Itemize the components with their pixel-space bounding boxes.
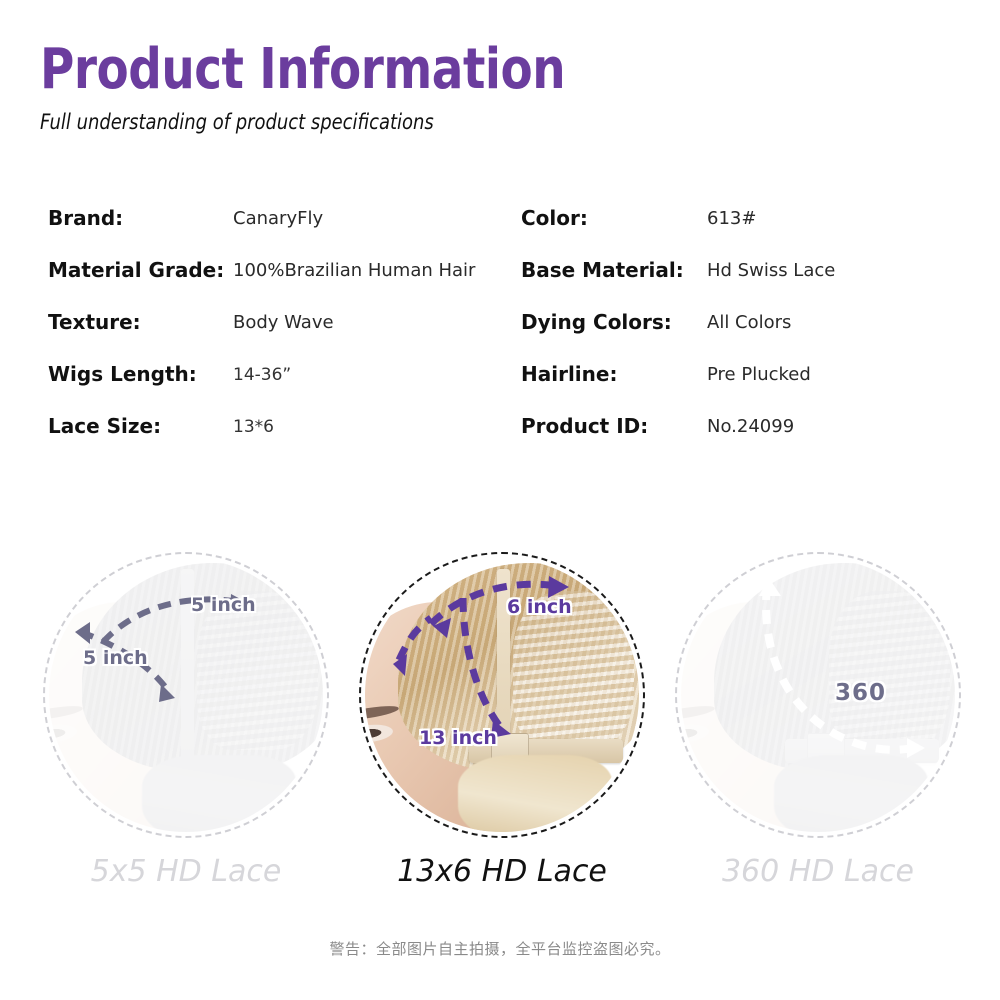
spec-value-wigs-length: 14-36” (233, 362, 291, 388)
spec-label-product-id: Product ID: (521, 413, 648, 439)
spec-column-right: Color: 613# Base Material: Hd Swiss Lace… (521, 205, 971, 465)
measure-label-a-13x6: 6 inch (507, 596, 572, 618)
spec-row-texture: Texture: Body Wave (48, 309, 518, 361)
spec-row-color: Color: 613# (521, 205, 971, 257)
spec-label-color: Color: (521, 205, 588, 231)
measure-label-a-5x5: 5 inch (191, 594, 256, 616)
measure-label-b-5x5: 5 inch (83, 647, 148, 669)
lace-caption-13x6: 13x6 HD Lace (352, 854, 652, 889)
copyright-warning-note: 警告：全部图片自主拍摄，全平台监控盗图必究。 (0, 938, 1000, 959)
lace-card-5x5[interactable]: 5 inch 5 inch 5x5 HD Lace (36, 548, 336, 948)
lace-photo-13x6[interactable]: 6 inch 13 inch (359, 552, 645, 838)
spec-value-hairline: Pre Plucked (707, 362, 811, 388)
spec-value-material-grade: 100%Brazilian Human Hair (233, 258, 475, 284)
spec-row-hairline: Hairline: Pre Plucked (521, 361, 971, 413)
spec-label-wigs-length: Wigs Length: (48, 361, 197, 387)
lace-photo-5x5[interactable]: 5 inch 5 inch (43, 552, 329, 838)
spec-value-lace-size: 13*6 (233, 414, 274, 440)
spec-value-base-material: Hd Swiss Lace (707, 258, 835, 284)
lace-type-gallery: 5 inch 5 inch 5x5 HD Lace (0, 548, 1000, 948)
spec-label-hairline: Hairline: (521, 361, 617, 387)
spec-label-material-grade: Material Grade: (48, 257, 224, 283)
spec-value-brand: CanaryFly (233, 206, 323, 232)
measurement-arrows-5x5 (43, 552, 329, 838)
spec-column-left: Brand: CanaryFly Material Grade: 100%Bra… (48, 205, 518, 465)
spec-row-wigs-length: Wigs Length: 14-36” (48, 361, 518, 413)
lace-caption-5x5: 5x5 HD Lace (36, 854, 336, 889)
spec-row-material-grade: Material Grade: 100%Brazilian Human Hair (48, 257, 518, 309)
measure-label-b-13x6: 13 inch (419, 727, 497, 749)
spec-value-texture: Body Wave (233, 310, 334, 336)
page-subtitle: Full understanding of product specificat… (40, 110, 434, 134)
spec-row-brand: Brand: CanaryFly (48, 205, 518, 257)
lace-photo-360[interactable]: 360 (675, 552, 961, 838)
measurement-arrows-360 (675, 552, 961, 838)
product-information-page: Product Information Full understanding o… (0, 0, 1000, 1000)
spec-label-lace-size: Lace Size: (48, 413, 161, 439)
spec-row-lace-size: Lace Size: 13*6 (48, 413, 518, 465)
measure-label-a-360: 360 (835, 680, 886, 706)
spec-label-brand: Brand: (48, 205, 123, 231)
measurement-arrows-13x6 (359, 552, 645, 838)
spec-row-product-id: Product ID: No.24099 (521, 413, 971, 465)
page-title: Product Information (40, 42, 565, 98)
spec-row-base-material: Base Material: Hd Swiss Lace (521, 257, 971, 309)
lace-card-360[interactable]: 360 360 HD Lace (668, 548, 968, 948)
spec-value-product-id: No.24099 (707, 414, 794, 440)
lace-card-13x6[interactable]: 6 inch 13 inch 13x6 HD Lace (352, 548, 652, 948)
spec-label-base-material: Base Material: (521, 257, 684, 283)
spec-value-dying-colors: All Colors (707, 310, 791, 336)
lace-caption-360: 360 HD Lace (668, 854, 968, 889)
spec-value-color: 613# (707, 206, 756, 232)
spec-label-dying-colors: Dying Colors: (521, 309, 672, 335)
spec-label-texture: Texture: (48, 309, 141, 335)
spec-row-dying-colors: Dying Colors: All Colors (521, 309, 971, 361)
